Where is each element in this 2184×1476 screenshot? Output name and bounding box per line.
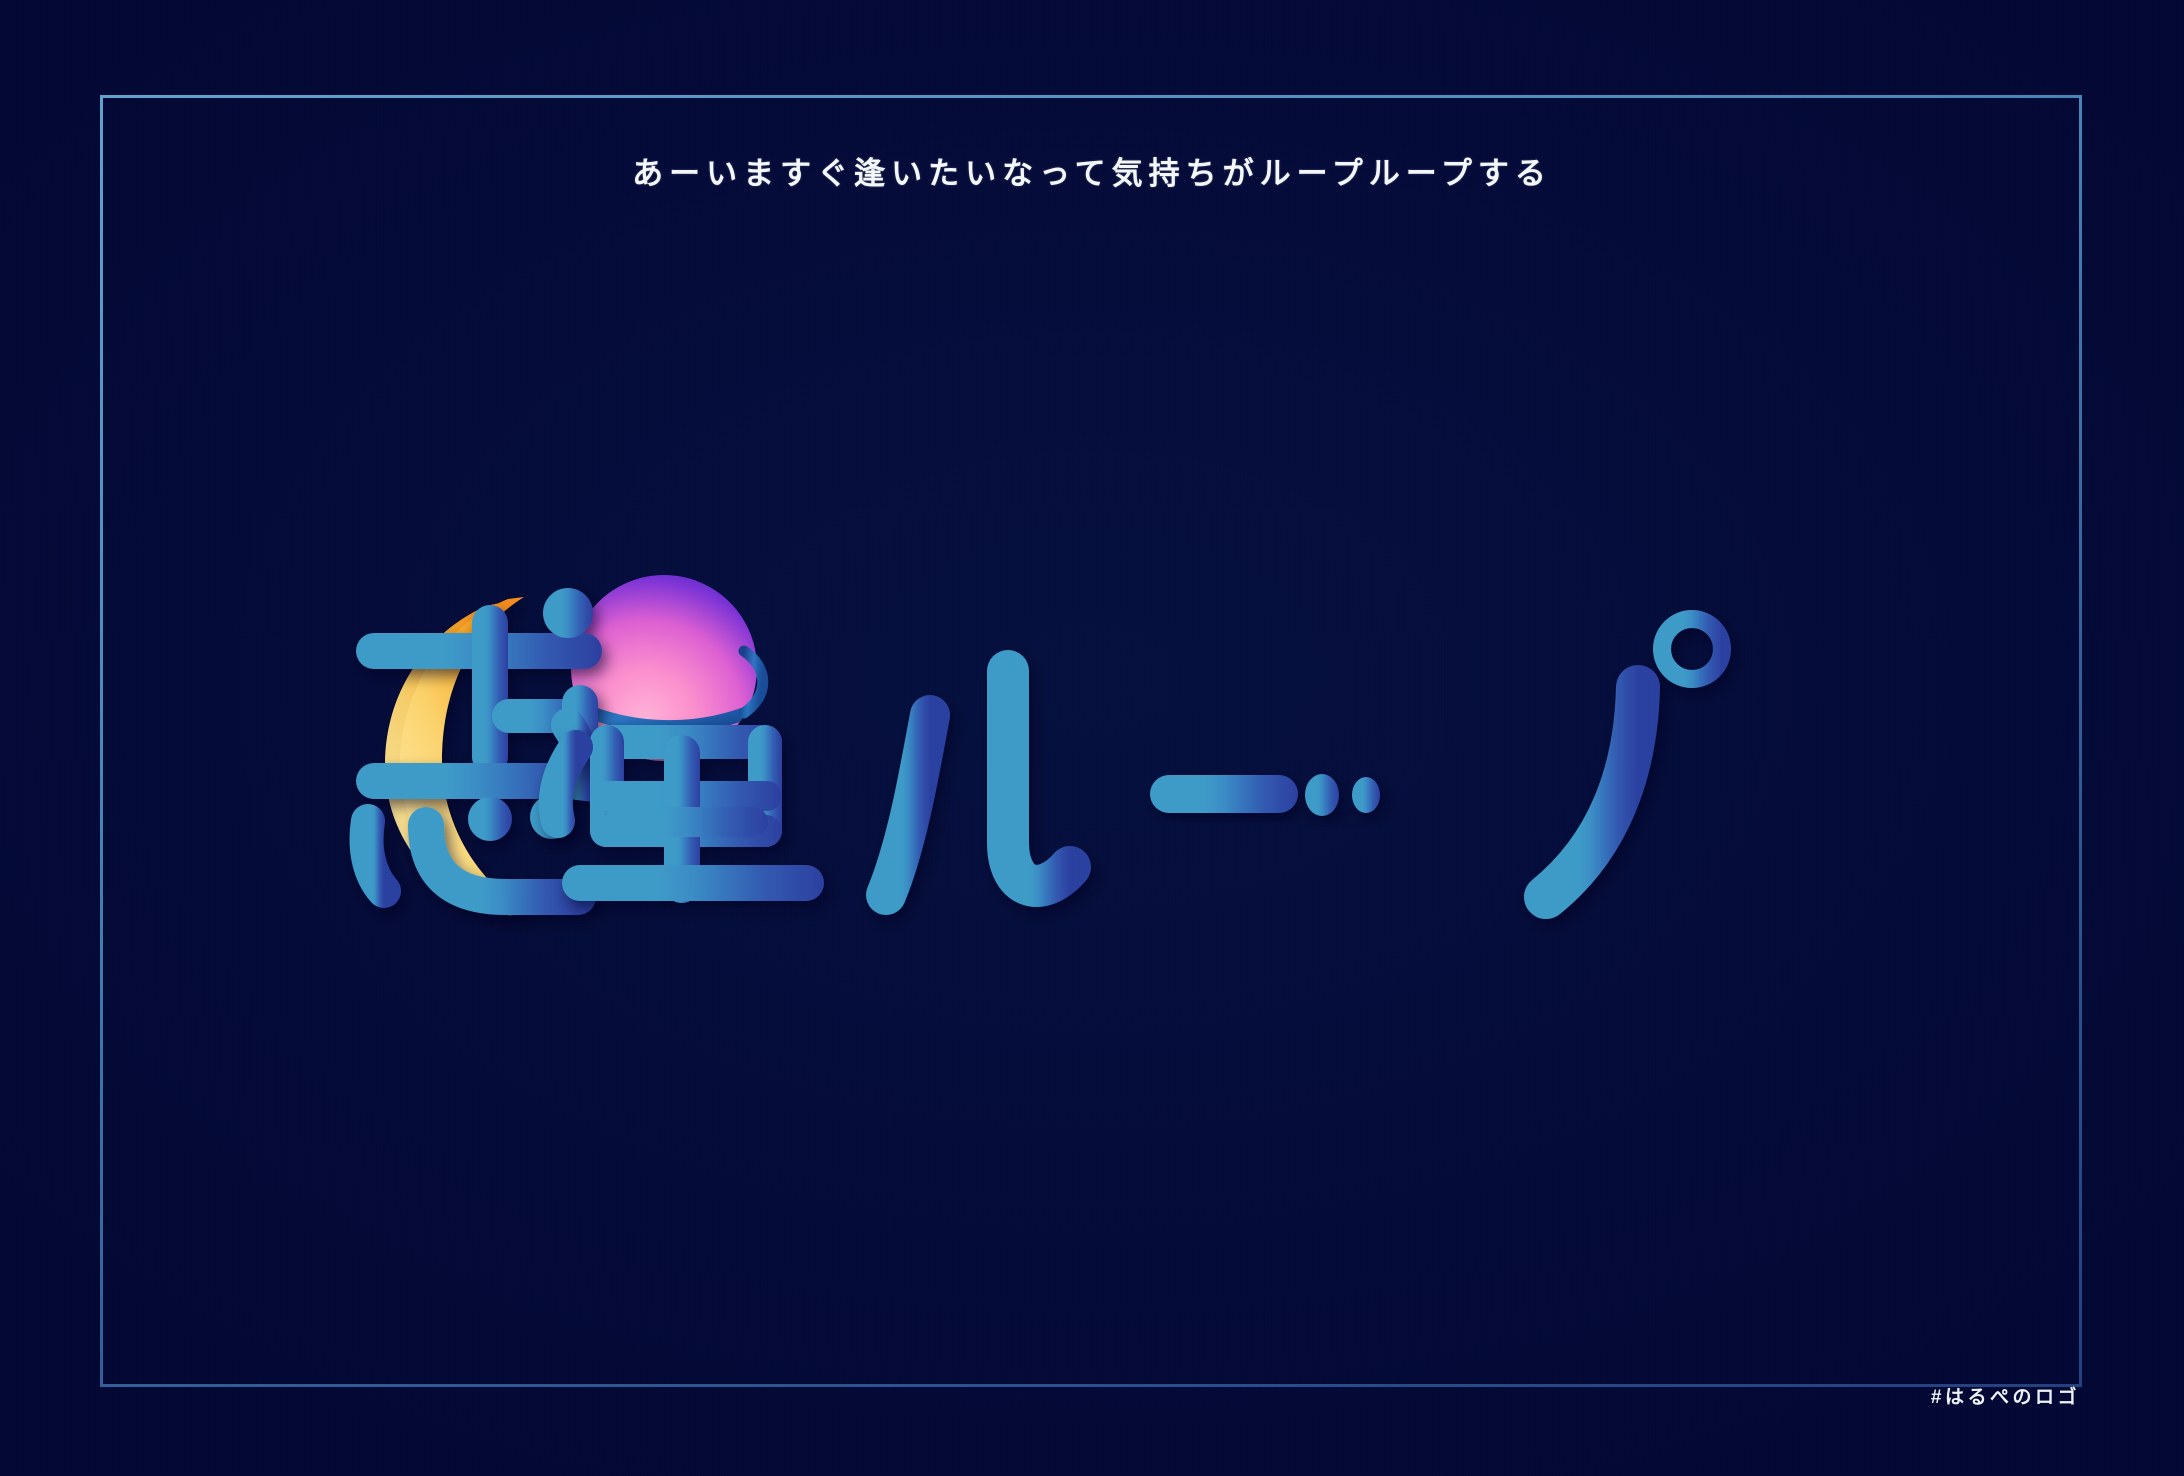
logo-lockup: 惑星ループ	[340, 575, 1900, 935]
logo-char-choonpu	[1150, 775, 1298, 813]
poster-canvas: あーいますぐ逢いたいなって気持ちがループループする	[0, 0, 2184, 1476]
logo-char-pu	[1462, 619, 1722, 897]
tagline-text: あーいますぐ逢いたいなって気持ちがループループする	[0, 148, 2184, 193]
logo-char-sei	[556, 725, 824, 903]
logo-char-ru	[886, 671, 1070, 895]
hashtag-credit: #はるぺのロゴ	[1931, 1382, 2080, 1409]
logo-dakuten-dots	[1305, 774, 1380, 816]
